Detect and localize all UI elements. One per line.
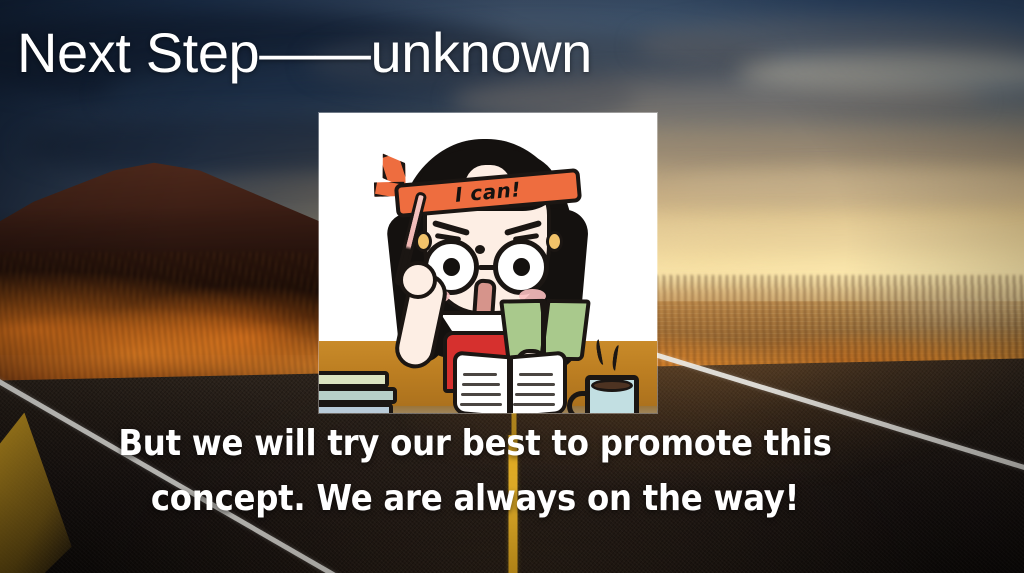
glasses-bridge <box>478 265 496 270</box>
open-book-on-desk <box>453 351 567 413</box>
coffee-surface <box>591 379 633 392</box>
headband-label: I can! <box>454 177 522 207</box>
pupil-left <box>443 258 460 276</box>
nose <box>475 245 485 254</box>
cartoon-illustration: I can! <box>319 113 657 413</box>
ear-right <box>546 231 563 252</box>
slide-body-text: But we will try our best to promote this… <box>102 417 849 526</box>
pupil-right <box>513 258 530 276</box>
book-stack-bottom <box>319 403 393 413</box>
book-stack-middle <box>319 387 397 404</box>
book-stack-top <box>319 371 389 388</box>
presentation-slide: Next Step——unknown I can! <box>0 0 1024 573</box>
slide-title: Next Step——unknown <box>17 21 592 85</box>
hand-holding-pen <box>399 261 437 299</box>
